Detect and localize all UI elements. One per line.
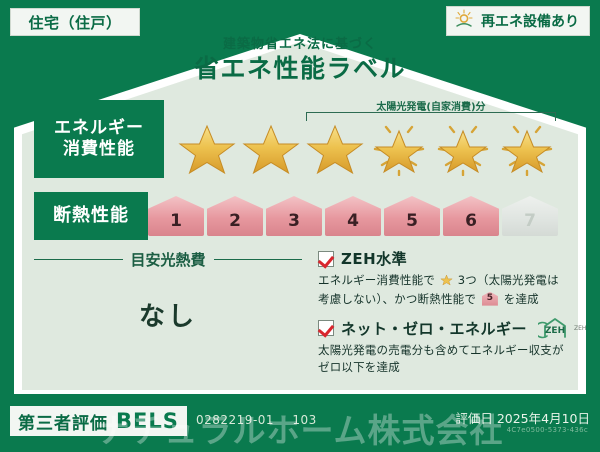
utility-cost-value: なし	[34, 296, 302, 333]
insulation-badge-number: 5	[482, 292, 498, 306]
zeh-net-zero-description: 太陽光発電の売電分も含めてエネルギー収支がゼロ以下を達成	[318, 342, 570, 375]
svg-text:ZEH: ZEH	[545, 326, 565, 336]
zeh-standard-description: エネルギー消費性能で 3つ（太陽光発電は考慮しない）、かつ断熱性能で 5 を達成	[318, 272, 570, 307]
bels-number: 0282219-01	[196, 413, 274, 427]
zeh-desc-pre: エネルギー消費性能で	[318, 273, 435, 287]
zeh-item-net-zero: ネット・ゼロ・エネルギー ZEH ZEH 太陽光発電の売電分も含めてエネルギー収…	[318, 317, 570, 375]
checkbox-checked-icon	[318, 320, 334, 336]
zeh-standard-heading: ZEH水準	[318, 248, 570, 269]
insulation-step-number: 2	[229, 211, 241, 236]
heading-rule-right	[214, 259, 303, 260]
zeh-item-standard: ZEH水準 エネルギー消費性能で 3つ（太陽光発電は考慮しない）、かつ断熱性能で…	[318, 248, 570, 307]
zeh-standard-title: ZEH水準	[341, 248, 407, 269]
utility-cost-block: 目安光熱費 なし	[34, 248, 302, 368]
star-rating	[164, 118, 568, 176]
utility-cost-heading: 目安光熱費	[34, 248, 302, 270]
zeh-net-zero-heading: ネット・ゼロ・エネルギー ZEH ZEH	[318, 317, 570, 339]
energy-label-line1: エネルギー	[54, 118, 144, 139]
utility-cost-heading-label: 目安光熱費	[131, 249, 206, 270]
zeh-logo-sublabel: ZEH	[574, 325, 586, 332]
checkbox-checked-icon	[318, 251, 334, 267]
badge-renewable-equipment: 再エネ設備あり	[446, 6, 590, 36]
zeh-desc-post: を達成	[504, 292, 539, 306]
footer-bar: 第三者評価 BELS 0282219-01 103 評価日 2025年4月10日…	[0, 398, 600, 450]
insulation-performance-row: 断熱性能 1 2 3 4 5	[34, 192, 568, 240]
bels-jp-label: 第三者評価	[18, 409, 108, 434]
solar-annotation-text: 太陽光発電(自家消費)分	[302, 98, 560, 113]
star-icon-solar	[432, 118, 494, 176]
insulation-scale: 1 2 3 4 5 6 7	[148, 192, 568, 240]
evaluation-date: 評価日 2025年4月10日	[455, 408, 590, 427]
evaluation-date-label: 評価日	[455, 411, 493, 426]
energy-performance-row: エネルギー 消費性能 太陽光発電(自家消費)分	[34, 100, 568, 178]
star-icon	[240, 118, 302, 176]
insulation-step: 6	[443, 196, 499, 236]
insulation-step: 2	[207, 196, 263, 236]
energy-stars-area: 太陽光発電(自家消費)分	[164, 100, 568, 178]
badge-housing-label: 住宅（住戸）	[28, 12, 121, 33]
insulation-step-number: 6	[465, 211, 477, 236]
sun-solar-icon	[453, 8, 475, 34]
insulation-step-number: 1	[170, 211, 182, 236]
bels-number-group: 0282219-01 103	[196, 413, 317, 427]
insulation-label: 断熱性能	[53, 205, 129, 228]
insulation-step: 4	[325, 196, 381, 236]
energy-performance-label: 住宅（住戸） 再エネ設備あり 建築物省エネ法に基づく 省エネ性能ラベル	[0, 0, 600, 450]
insulation-step: 5	[384, 196, 440, 236]
insulation-step-number: 5	[406, 211, 418, 236]
zeh-net-zero-title: ネット・ゼロ・エネルギー	[341, 318, 527, 339]
insulation-step-number: 7	[524, 211, 536, 236]
bels-certification-badge: 第三者評価 BELS	[10, 406, 187, 436]
insulation-label-block: 断熱性能	[34, 192, 148, 240]
evaluation-date-value: 2025年4月10日	[497, 411, 590, 426]
insulation-badge-inline: 5	[482, 292, 498, 306]
badge-housing-type: 住宅（住戸）	[10, 8, 140, 36]
star-icon-solar	[496, 118, 558, 176]
bels-section-number: 103	[292, 413, 316, 427]
insulation-step-inactive: 7	[502, 196, 558, 236]
badge-renewable-label: 再エネ設備あり	[481, 11, 579, 31]
bels-en-label: BELS	[116, 409, 179, 433]
star-icon-inline	[440, 273, 453, 291]
star-icon	[304, 118, 366, 176]
zeh-criteria-block: ZEH水準 エネルギー消費性能で 3つ（太陽光発電は考慮しない）、かつ断熱性能で…	[318, 248, 570, 372]
energy-label-line2: 消費性能	[63, 139, 135, 160]
insulation-step-number: 4	[347, 211, 359, 236]
insulation-step: 3	[266, 196, 322, 236]
heading-rule-left	[34, 259, 123, 260]
insulation-step-number: 3	[288, 211, 300, 236]
star-icon	[176, 118, 238, 176]
star-icon-solar	[368, 118, 430, 176]
evaluation-id: 4C7e0500-5373-436c	[507, 426, 588, 434]
insulation-step: 1	[148, 196, 204, 236]
zeh-logo-icon: ZEH ZEH	[538, 317, 586, 339]
energy-performance-label-block: エネルギー 消費性能	[34, 100, 164, 178]
